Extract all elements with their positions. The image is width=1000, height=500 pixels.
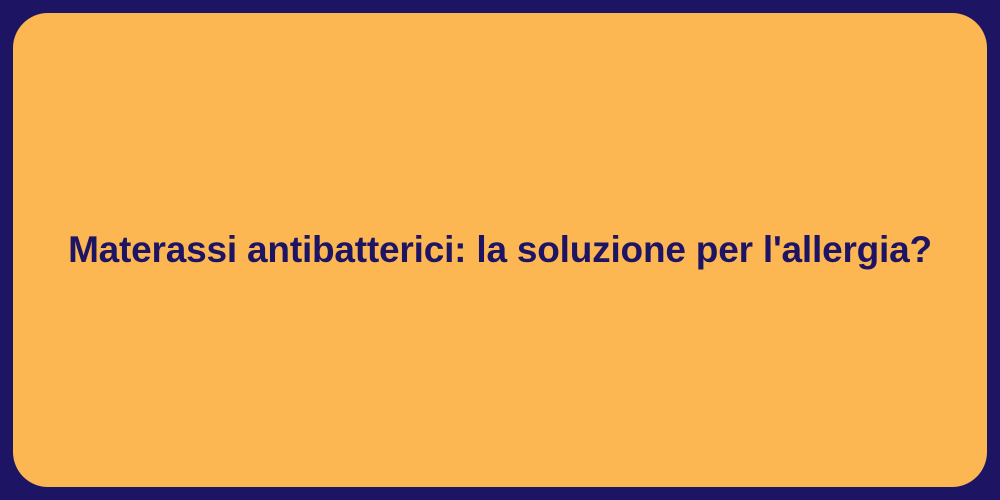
banner-content: Materassi antibatterici: la soluzione pe… [13,227,987,273]
banner-card: Materassi antibatterici: la soluzione pe… [13,13,987,487]
page-title: Materassi antibatterici: la soluzione pe… [68,227,932,273]
banner-canvas: Materassi antibatterici: la soluzione pe… [0,0,1000,500]
